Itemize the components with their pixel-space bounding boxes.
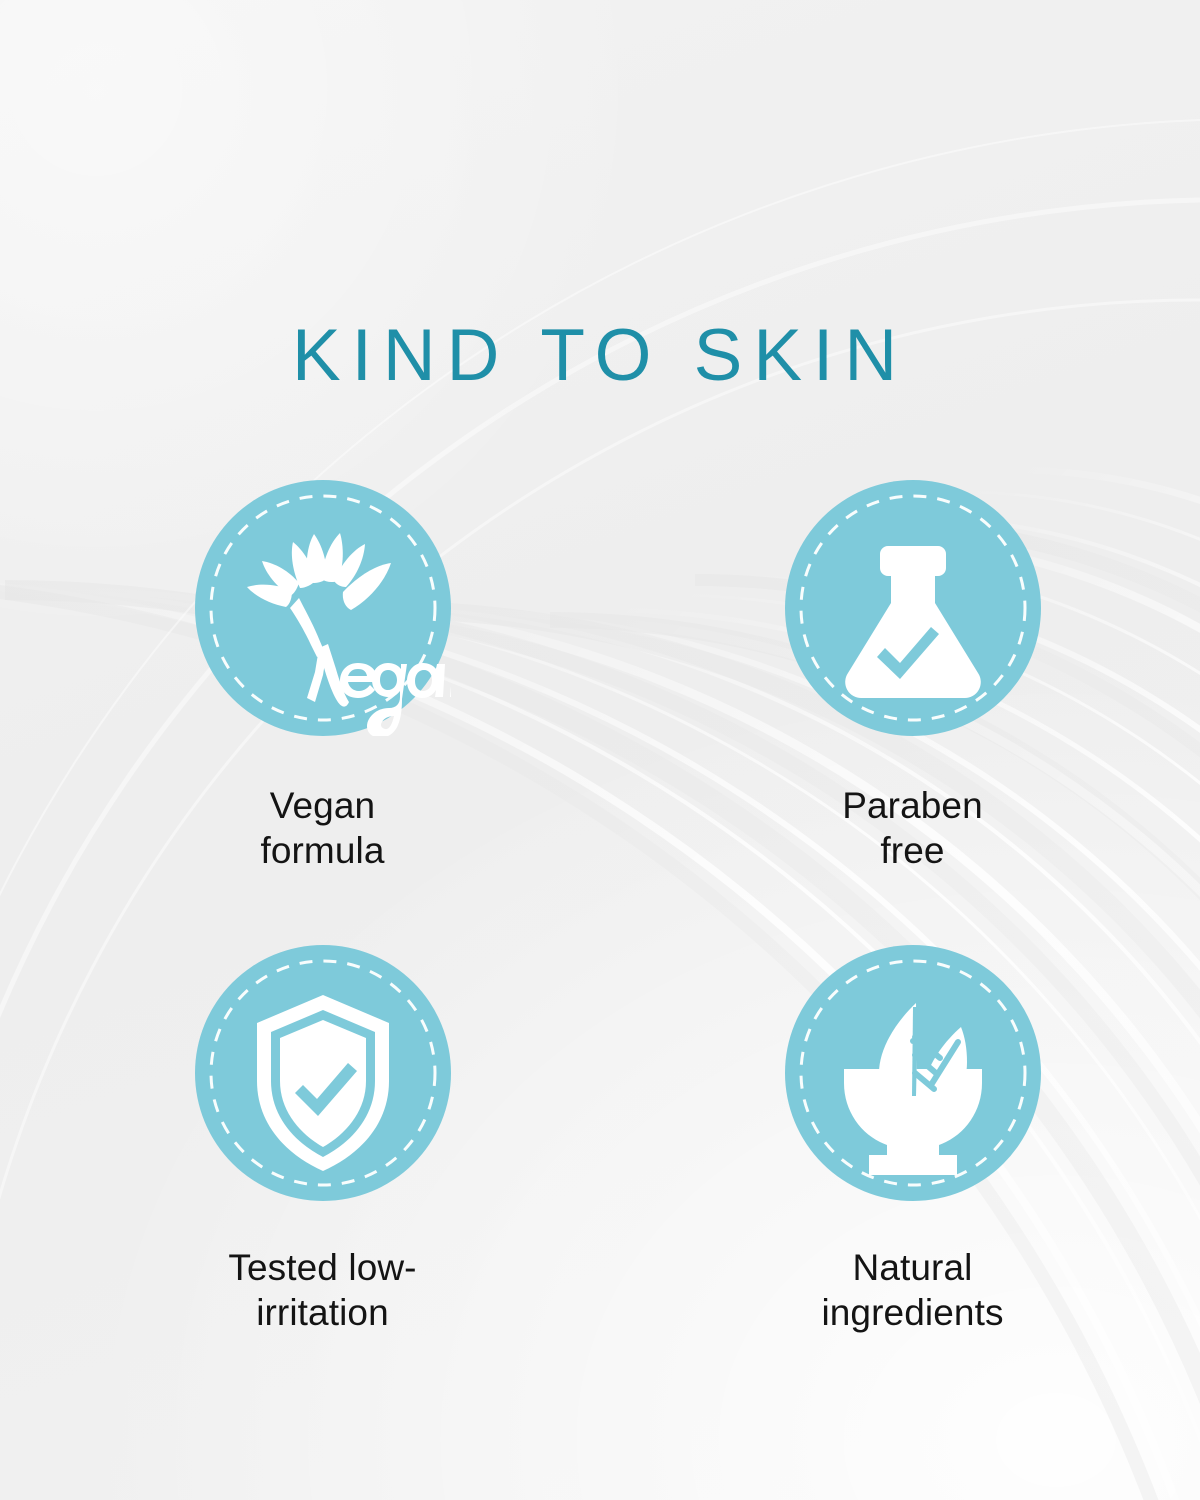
mortar-leaves-icon [785,945,1041,1201]
vegan-flower-badge-icon [195,480,451,736]
benefit-caption-tested-low-irritation: Tested low- irritation [228,1245,416,1335]
benefit-item-natural-ingredients: Natural ingredients [600,945,1200,1410]
page-title: KIND TO SKIN [0,316,1200,396]
kind-to-skin-infographic: KIND TO SKIN [0,0,1200,1500]
badge-circle-tested-low-irritation [195,945,451,1201]
benefit-caption-natural-ingredients: Natural ingredients [821,1245,1003,1335]
shield-check-icon [195,945,451,1201]
benefit-item-vegan-formula: Vegan formula [0,480,600,945]
benefit-item-tested-low-irritation: Tested low- irritation [0,945,600,1410]
benefits-grid: Vegan formula Paraben free [0,480,1200,1410]
badge-circle-vegan-formula [195,480,451,736]
flask-check-icon [785,480,1041,736]
badge-circle-natural-ingredients [785,945,1041,1201]
benefit-caption-paraben-free: Paraben free [842,783,983,873]
benefit-caption-vegan-formula: Vegan formula [260,783,384,873]
badge-circle-paraben-free [785,480,1041,736]
benefit-item-paraben-free: Paraben free [600,480,1200,945]
